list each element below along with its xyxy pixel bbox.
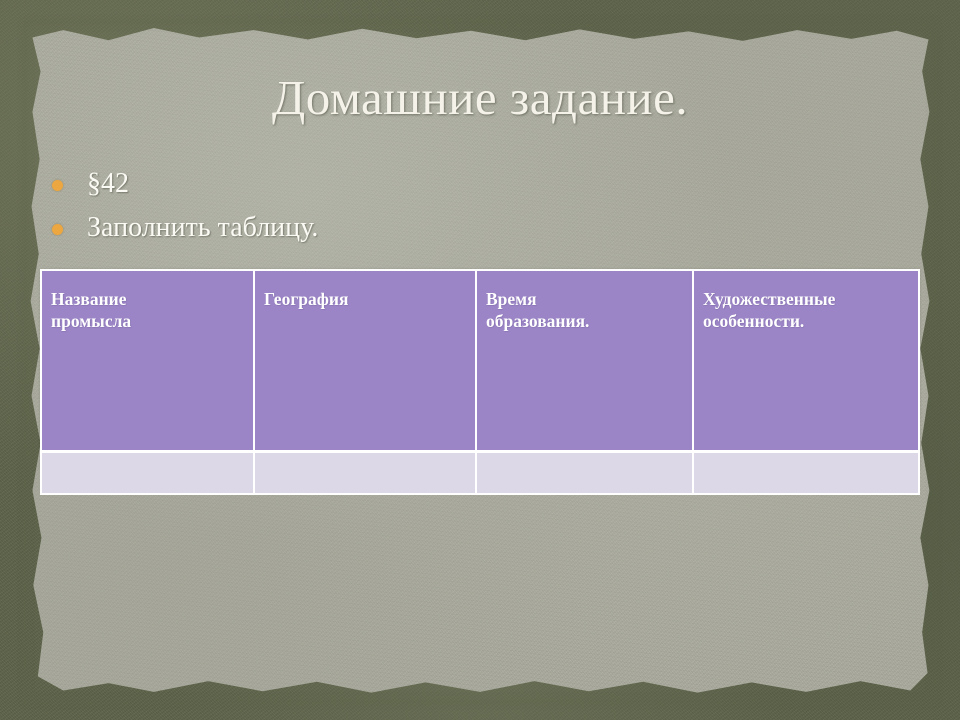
table-header-cell-features[interactable]: Художественные особенности.: [693, 270, 919, 452]
list-item[interactable]: §42: [52, 166, 752, 202]
bullet-dot-icon: [52, 224, 63, 235]
slide-canvas: Домашние задание. §42 Заполнить таблицу.…: [0, 0, 960, 720]
header-line-1: Художественные: [703, 288, 908, 310]
list-item[interactable]: Заполнить таблицу.: [52, 210, 752, 246]
header-line-1: Время: [486, 288, 682, 310]
bullet-dot-icon: [52, 180, 63, 191]
table-header-cell-geography[interactable]: География: [254, 270, 476, 452]
table-cell[interactable]: [254, 452, 476, 495]
table-header-row: Название промысла География Время образо…: [41, 270, 919, 452]
table-cell[interactable]: [41, 452, 254, 495]
bullet-list: §42 Заполнить таблицу.: [52, 166, 752, 254]
homework-table-container: Название промысла География Время образо…: [40, 269, 918, 468]
table-header-cell-name[interactable]: Название промысла: [41, 270, 254, 452]
header-line-2: образования.: [486, 310, 682, 332]
header-line-1: География: [264, 288, 465, 310]
slide-title: Домашние задание.: [60, 72, 900, 124]
table-header-cell-time[interactable]: Время образования.: [476, 270, 693, 452]
bullet-item-label: Заполнить таблицу.: [87, 211, 318, 245]
table-cell[interactable]: [693, 452, 919, 495]
header-line-2: особенности.: [703, 310, 908, 332]
table-row: [41, 452, 919, 495]
header-line-2: промысла: [51, 310, 243, 332]
homework-table: Название промысла География Время образо…: [40, 269, 920, 495]
header-line-1: Название: [51, 288, 243, 310]
table-cell[interactable]: [476, 452, 693, 495]
bullet-item-label: §42: [87, 167, 129, 201]
